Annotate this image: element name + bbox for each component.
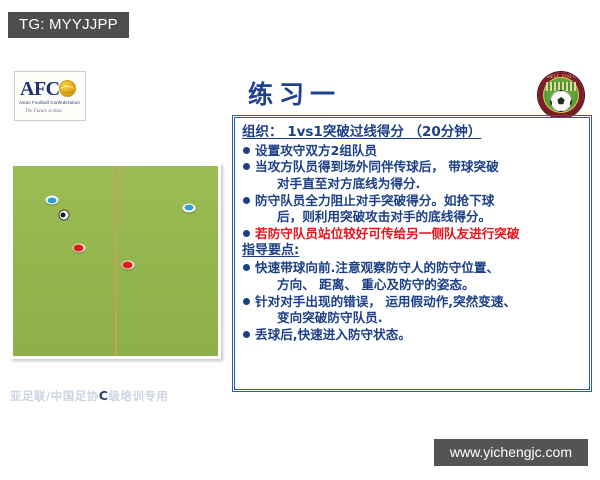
- panel-heading: 组织： 1vs1突破过线得分 （20分钟）: [242, 124, 582, 141]
- tip-item: 快速带球向前.注意观察防守人的防守位置、 方向、 距离、 重心及防守的姿态。: [242, 260, 582, 293]
- player-marker-red: [121, 260, 134, 269]
- bullet-item: 防守队员全力阻止对手突破得分。如抢下球 后，则利用突破攻击对手的底线得分。: [242, 193, 582, 226]
- watermark-suffix: 级培训专用: [108, 389, 168, 403]
- bullet-item: 设置攻守双方2组队员: [242, 143, 582, 160]
- tip-text-continuation: 方向、 距离、 重心及防守的姿态。: [255, 277, 582, 294]
- bullet-item-highlighted: 若防守队员站位较好可传给另一侧队友进行突破: [242, 226, 582, 243]
- site-url-badge: www.yichengjc.com: [434, 439, 588, 466]
- watermark-prefix: 亚足联/中国足协: [10, 389, 99, 403]
- bullet-dot-icon: [243, 197, 250, 204]
- bullet-text-continuation: 对手直至对方底线为得分.: [255, 176, 582, 193]
- tip-text: 针对对手出现的错误， 运用假动作,突然变速、: [255, 294, 516, 309]
- afc-logo-letters: AFC: [20, 79, 60, 99]
- tg-tag-badge: TG: MYYJJPP: [8, 12, 129, 38]
- afc-logo-tagline: The Future is Asia: [25, 109, 62, 114]
- bullet-text-continuation: 后，则利用突破攻击对手的底线得分。: [255, 209, 582, 226]
- tip-item: 针对对手出现的错误， 运用假动作,突然变速、 变向突破防守队员.: [242, 294, 582, 327]
- player-marker-red: [72, 243, 85, 252]
- player-marker-blue: [45, 196, 58, 205]
- afc-logo-subtitle: Asian Football Confederation: [19, 100, 80, 105]
- bullet-dot-icon: [243, 331, 250, 338]
- bullet-text: 若防守队员站位较好可传给另一侧队友进行突破: [255, 226, 519, 241]
- instruction-panel: 组织： 1vs1突破过线得分 （20分钟） 设置攻守双方2组队员 当攻方队员得到…: [234, 117, 590, 390]
- watermark-highlight: C: [99, 388, 109, 403]
- bullet-text: 当攻方队员得到场外同伴传球后， 带球突破: [255, 159, 499, 174]
- soccer-ball-icon: [550, 90, 572, 112]
- pitch-center-line: [115, 166, 117, 356]
- pitch-diagram: [10, 163, 221, 359]
- bullet-item: 当攻方队员得到场外同伴传球后， 带球突破 对手直至对方底线为得分.: [242, 159, 582, 192]
- bullet-text: 防守队员全力阻止对手突破得分。如抢下球: [255, 193, 494, 208]
- tip-text: 快速带球向前.注意观察防守人的防守位置、: [255, 260, 499, 275]
- bullet-dot-icon: [243, 264, 250, 271]
- tip-item: 丢球后,快速进入防守状态。: [242, 327, 582, 344]
- cfa-emblem-icon: CHINESE FOOTBALL ASSOCIATION: [538, 72, 584, 118]
- bullet-dot-icon: [243, 298, 250, 305]
- panel-subheading: 指导要点:: [242, 243, 582, 260]
- coaching-points-list: 快速带球向前.注意观察防守人的防守位置、 方向、 距离、 重心及防守的姿态。 针…: [242, 260, 582, 343]
- pitch-field: [13, 166, 218, 356]
- bullet-dot-icon: [243, 147, 250, 154]
- bullet-text: 设置攻守双方2组队员: [255, 143, 377, 158]
- ball-marker: [60, 211, 69, 220]
- afc-globe-icon: [59, 80, 76, 97]
- tip-text-continuation: 变向突破防守队员.: [255, 310, 582, 327]
- bullet-dot-icon: [243, 230, 250, 237]
- training-watermark: 亚足联/中国足协C级培训专用: [10, 388, 168, 404]
- organization-bullet-list: 设置攻守双方2组队员 当攻方队员得到场外同伴传球后， 带球突破 对手直至对方底线…: [242, 143, 582, 243]
- afc-logo: AFC Asian Football Confederation The Fut…: [14, 71, 86, 121]
- slide-title: 练习一: [248, 82, 341, 107]
- player-marker-blue: [183, 203, 196, 212]
- slide-canvas: AFC Asian Football Confederation The Fut…: [0, 62, 600, 412]
- bullet-dot-icon: [243, 163, 250, 170]
- tip-text: 丢球后,快速进入防守状态。: [255, 327, 411, 342]
